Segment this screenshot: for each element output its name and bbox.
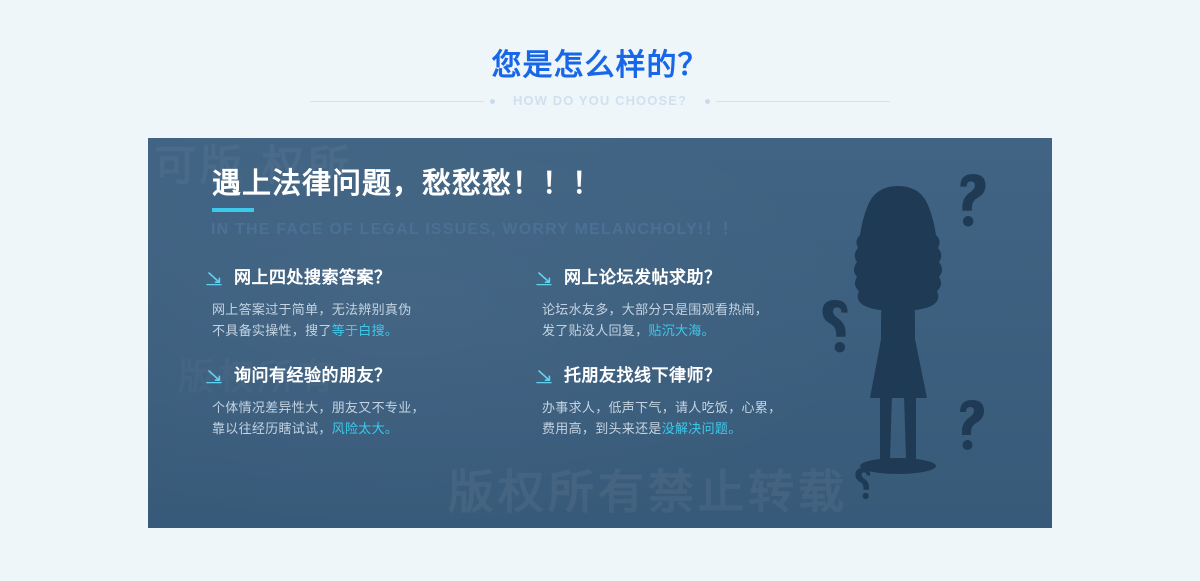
desc-plain: 不具备实操性，搜了 <box>212 323 332 338</box>
headline-accent-bar <box>212 208 254 212</box>
diagonal-arrow-icon <box>535 368 557 384</box>
list-item-title: 询问有经验的朋友？ <box>234 365 392 387</box>
desc-highlight: 贴沉大海 <box>648 323 701 338</box>
divider-left <box>310 96 495 106</box>
list-item-title: 网上论坛发帖求助？ <box>564 267 722 289</box>
desc-tail: 。 <box>385 421 398 436</box>
page-title: 您是怎么样的？ <box>0 48 1200 84</box>
figure-hair <box>854 186 942 311</box>
figure-shadow <box>860 458 936 474</box>
desc-tail: 。 <box>728 421 741 436</box>
question-mark-icon <box>855 468 870 499</box>
list-item-ask-friends: 询问有经验的朋友？ 个体情况差异性大，朋友又不专业， 靠以往经历瞎试试，风险太大… <box>205 364 535 439</box>
desc-highlight: 风险太大 <box>332 421 385 436</box>
silhouette-svg <box>796 148 1046 528</box>
diagonal-arrow-icon <box>205 368 227 384</box>
diagonal-arrow-icon <box>535 270 557 286</box>
list-item-search-online: 网上四处搜索答案？ 网上答案过于简单，无法辨别真伪 不具备实操性，搜了等于白搜。 <box>205 266 535 341</box>
subtitle-row: HOW DO YOU CHOOSE? <box>0 88 1200 114</box>
desc-tail: 。 <box>702 323 715 338</box>
divider-dot <box>705 99 710 104</box>
list-item-description: 个体情况差异性大，朋友又不专业， 靠以往经历瞎试试，风险太大。 <box>212 397 535 439</box>
desc-highlight: 没解决问题 <box>662 421 729 436</box>
desc-plain: 靠以往经历瞎试试， <box>212 421 332 436</box>
divider-dot <box>490 99 495 104</box>
question-mark-icon <box>823 300 848 353</box>
section-header: 您是怎么样的？ HOW DO YOU CHOOSE? <box>0 0 1200 130</box>
divider-right <box>705 96 890 106</box>
desc-plain: 发了贴没人回复， <box>542 323 648 338</box>
list-item-description-line1: 个体情况差异性大，朋友又不专业， <box>212 397 535 418</box>
diagonal-arrow-icon <box>205 270 227 286</box>
content-panel: 可版 权所 版权所有 版权所有禁止转载 遇上法律问题，愁愁愁！！！ IN THE… <box>148 138 1052 528</box>
list-item-description: 网上答案过于简单，无法辨别真伪 不具备实操性，搜了等于白搜。 <box>212 299 535 341</box>
confused-woman-silhouette <box>796 148 1046 528</box>
list-item-description-line2: 不具备实操性，搜了等于白搜。 <box>212 320 535 341</box>
page-subtitle: HOW DO YOU CHOOSE? <box>495 91 705 111</box>
desc-plain: 费用高，到头来还是 <box>542 421 662 436</box>
list-item-description-line1: 网上答案过于简单，无法辨别真伪 <box>212 299 535 320</box>
question-mark-icon <box>960 400 984 450</box>
list-item-description-line2: 靠以往经历瞎试试，风险太大。 <box>212 418 535 439</box>
panel-headline-english: IN THE FACE OF LEGAL ISSUES, WORRY MELAN… <box>211 218 739 242</box>
question-mark-icon <box>960 174 985 227</box>
figure-leg-right <box>904 395 916 464</box>
panel-headline: 遇上法律问题，愁愁愁！！！ <box>212 165 602 203</box>
desc-highlight: 等于白搜 <box>332 323 385 338</box>
figure-skirt <box>870 334 927 398</box>
panel-inner: 遇上法律问题，愁愁愁！！！ IN THE FACE OF LEGAL ISSUE… <box>148 138 1052 528</box>
figure-leg-left <box>880 395 892 464</box>
divider-line <box>716 101 890 102</box>
list-item-head: 网上四处搜索答案？ <box>205 266 535 290</box>
divider-line <box>310 101 484 102</box>
list-item-title: 网上四处搜索答案？ <box>234 267 392 289</box>
list-item-title: 托朋友找线下律师？ <box>564 365 722 387</box>
desc-tail: 。 <box>385 323 398 338</box>
list-item-head: 询问有经验的朋友？ <box>205 364 535 388</box>
